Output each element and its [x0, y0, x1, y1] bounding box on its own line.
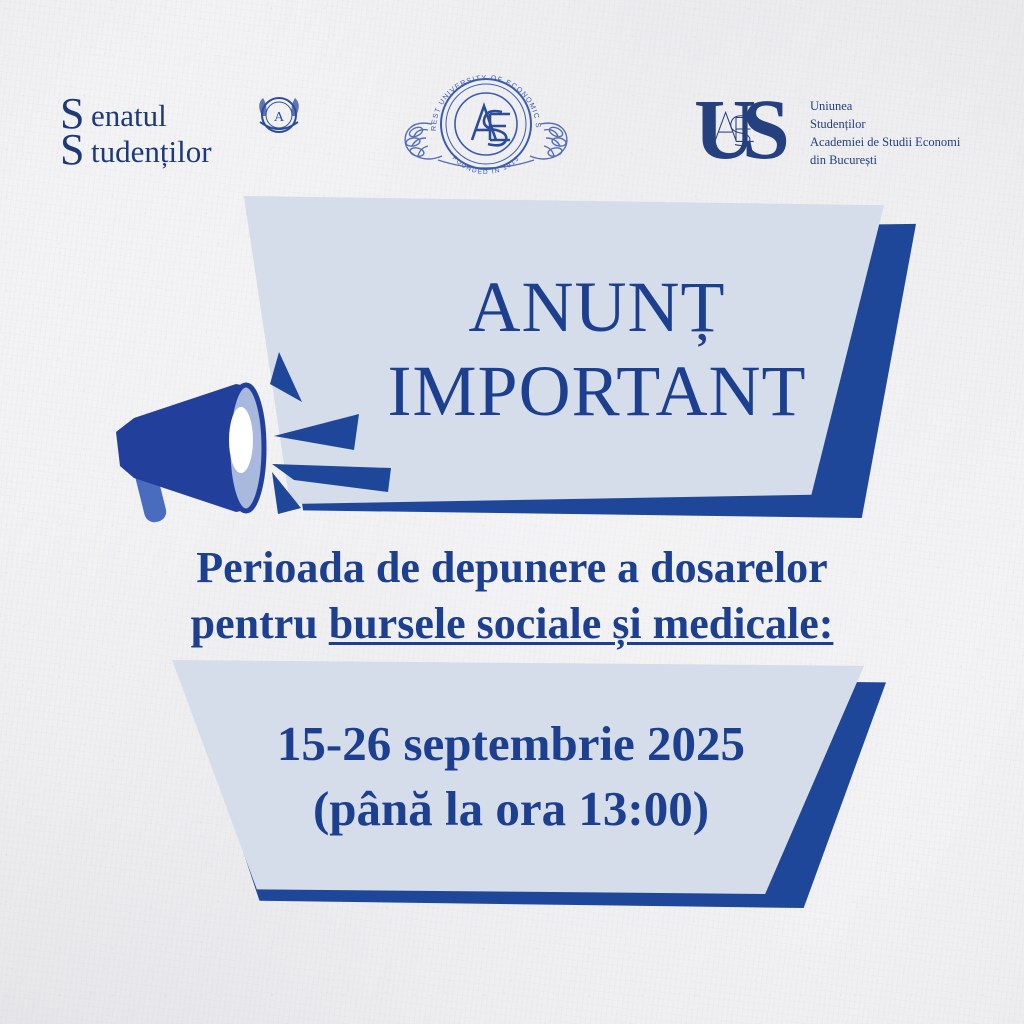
uniunea-studentilor-ase-logo: U S Uniunea Studenților Academiei de Stu… [694, 86, 960, 176]
announcement-body: Perioada de depunere a dosarelor pentru … [0, 540, 1024, 653]
svg-text:A: A [274, 110, 285, 125]
deadline-line-2: (până la ora 13:00) [313, 781, 709, 836]
announcement-poster: S enatul S tudenților A [0, 0, 1024, 1024]
deadline-text: 15-26 septembrie 2025(până la ora 13:00) [237, 712, 785, 841]
svg-text:Academiei de Studii Economice: Academiei de Studii Economice [810, 135, 960, 149]
body-line-1: Perioada de depunere a dosarelor [0, 540, 1024, 596]
body-line-2: pentru bursele sociale și medicale: [0, 596, 1024, 652]
logo-row: S enatul S tudenților A [0, 0, 1024, 200]
ase-bucharest-seal: BUCHAREST UNIVERSITY OF ECONOMIC STUDIES… [398, 68, 574, 180]
bottom-banner: 15-26 septembrie 2025(până la ora 13:00) [158, 660, 864, 894]
svg-text:enatul: enatul [91, 98, 167, 133]
body-line-2-prefix: pentru [191, 599, 329, 648]
megaphone-icon [96, 340, 396, 555]
svg-text:Uniunea: Uniunea [810, 99, 853, 113]
svg-text:FOUNDED IN 1913: FOUNDED IN 1913 [451, 155, 522, 176]
svg-text:S: S [60, 125, 84, 174]
svg-text:tudenților: tudenților [91, 134, 212, 169]
title-line-1: ANUNȚ [469, 267, 726, 347]
svg-text:din București: din București [810, 153, 878, 167]
deadline-line-1: 15-26 septembrie 2025 [277, 716, 745, 771]
svg-text:BUCHAREST UNIVERSITY OF ECONOM: BUCHAREST UNIVERSITY OF ECONOMIC STUDIES [398, 68, 543, 131]
body-line-2-emphasis: bursele sociale și medicale: [329, 599, 834, 648]
svg-text:Studenților: Studenților [810, 117, 866, 131]
svg-text:S: S [742, 86, 790, 176]
senatul-studentilor-logo: S enatul S tudenților A [58, 88, 308, 174]
title-line-2: IMPORTANT [388, 351, 807, 431]
